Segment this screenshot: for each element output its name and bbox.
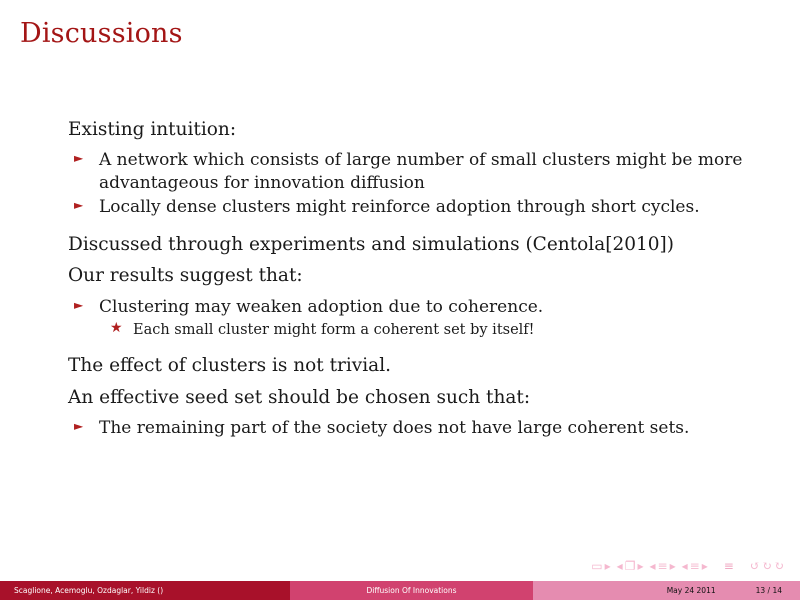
triangle-bullet-icon: ► xyxy=(74,196,83,215)
effect-of-clusters-line: The effect of clusters is not trivial. xyxy=(68,354,784,378)
nav-group-history[interactable]: ↺ ↻ ↻ xyxy=(750,560,784,572)
frame-icon[interactable]: ❐ xyxy=(625,560,636,572)
page-title: Discussions xyxy=(20,18,183,49)
footer-page-number: 13 / 14 xyxy=(756,586,782,595)
footer-authors: Scaglione, Acemoglu, Ozdaglar, Yildiz () xyxy=(0,581,290,600)
next-frame-icon[interactable]: ▸ xyxy=(637,560,643,572)
star-bullet-icon: ★ xyxy=(110,321,123,336)
triangle-bullet-icon: ► xyxy=(74,417,83,436)
nav-group-frame[interactable]: ◂ ❐ ▸ xyxy=(617,560,644,572)
nav-group-section[interactable]: ◂ ≡ ▸ xyxy=(682,560,708,572)
slide-body: Existing intuition: ► A network which co… xyxy=(68,118,784,448)
prev-frame-icon[interactable]: ◂ xyxy=(617,560,623,572)
list-item: ► Clustering may weaken adoption due to … xyxy=(68,296,784,318)
sub-list-item-label: Each small cluster might form a coherent… xyxy=(133,322,535,338)
discussed-experiments-line: Discussed through experiments and simula… xyxy=(68,233,784,257)
next-subsection-icon[interactable]: ▸ xyxy=(670,560,676,572)
list-item: ► Locally dense clusters might reinforce… xyxy=(68,196,784,218)
footer-date: May 24 2011 xyxy=(667,586,716,595)
list-item-label: The remaining part of the society does n… xyxy=(99,418,689,438)
search-icon[interactable]: ↻ xyxy=(762,560,772,572)
next-slide-icon[interactable]: ▸ xyxy=(605,560,611,572)
nav-group-presentation[interactable]: ≡ xyxy=(724,560,734,572)
results-sublist: ★ Each small cluster might form a cohere… xyxy=(68,321,784,340)
seed-set-heading: An effective seed set should be chosen s… xyxy=(68,386,784,410)
list-item-label: A network which consists of large number… xyxy=(99,150,742,192)
existing-intuition-heading: Existing intuition: xyxy=(68,118,784,142)
next-section-icon[interactable]: ▸ xyxy=(702,560,708,572)
section-icon[interactable]: ≡ xyxy=(690,560,700,572)
nav-group-slide[interactable]: ▭ ▸ xyxy=(591,560,610,572)
footer-talk-title: Diffusion Of Innovations xyxy=(290,581,533,600)
slide-icon[interactable]: ▭ xyxy=(591,560,602,572)
presentation-icon[interactable]: ≡ xyxy=(724,560,734,572)
slide-footer: Scaglione, Acemoglu, Ozdaglar, Yildiz ()… xyxy=(0,581,800,600)
nav-group-subsection[interactable]: ◂ ≡ ▸ xyxy=(650,560,676,572)
sub-list-item: ★ Each small cluster might form a cohere… xyxy=(68,321,784,340)
seed-set-list: ► The remaining part of the society does… xyxy=(68,417,784,439)
subsection-icon[interactable]: ≡ xyxy=(658,560,668,572)
our-results-heading: Our results suggest that: xyxy=(68,264,784,288)
list-item-label: Clustering may weaken adoption due to co… xyxy=(99,297,543,317)
list-item-label: Locally dense clusters might reinforce a… xyxy=(99,197,700,217)
list-item: ► A network which consists of large numb… xyxy=(68,149,784,193)
prev-subsection-icon[interactable]: ◂ xyxy=(650,560,656,572)
beamer-navigation-bar[interactable]: ▭ ▸ ◂ ❐ ▸ ◂ ≡ ▸ ◂ ≡ ▸ ≡ ↺ ↻ ↻ xyxy=(591,560,790,572)
footer-meta: May 24 2011 13 / 14 xyxy=(533,581,800,600)
list-item: ► The remaining part of the society does… xyxy=(68,417,784,439)
intuition-list: ► A network which consists of large numb… xyxy=(68,149,784,217)
forward-icon[interactable]: ↻ xyxy=(774,560,784,572)
results-list: ► Clustering may weaken adoption due to … xyxy=(68,296,784,340)
triangle-bullet-icon: ► xyxy=(74,296,83,315)
triangle-bullet-icon: ► xyxy=(74,149,83,168)
prev-section-icon[interactable]: ◂ xyxy=(682,560,688,572)
back-icon[interactable]: ↺ xyxy=(750,560,760,572)
